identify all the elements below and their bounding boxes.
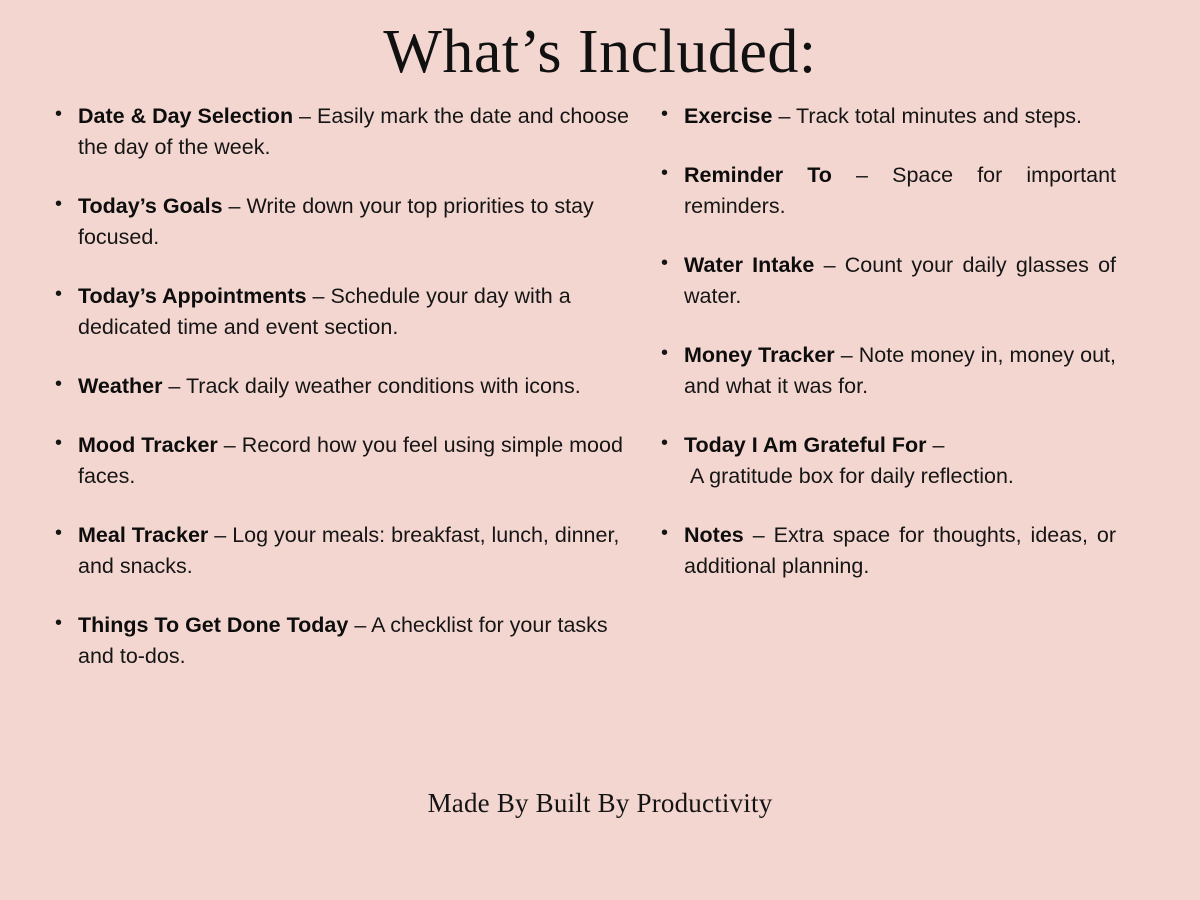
- feature-list-left: Date & Day Selection – Easily mark the d…: [46, 101, 632, 671]
- feature-term: Today I Am Grateful For: [684, 433, 927, 457]
- feature-term: Things To Get Done Today: [78, 613, 348, 637]
- page-title: What’s Included:: [0, 0, 1200, 87]
- feature-separator: –: [814, 253, 844, 277]
- promo-slide: What’s Included: Date & Day Selection – …: [0, 0, 1200, 900]
- feature-separator: –: [832, 163, 892, 187]
- feature-separator: –: [218, 433, 242, 457]
- feature-term: Today’s Goals: [78, 194, 223, 218]
- feature-term: Money Tracker: [684, 343, 835, 367]
- feature-separator: –: [293, 104, 317, 128]
- feature-item: Things To Get Done Today – A checklist f…: [46, 610, 632, 672]
- feature-item: Water Intake – Count your daily glasses …: [652, 250, 1116, 312]
- feature-term: Reminder To: [684, 163, 832, 187]
- feature-term: Mood Tracker: [78, 433, 218, 457]
- feature-term: Exercise: [684, 104, 772, 128]
- feature-term: Notes: [684, 523, 744, 547]
- feature-item: Mood Tracker – Record how you feel using…: [46, 430, 632, 492]
- feature-item: Today I Am Grateful For – A gratitude bo…: [652, 430, 1116, 492]
- feature-item: Money Tracker – Note money in, money out…: [652, 340, 1116, 402]
- feature-term: Today’s Appointments: [78, 284, 307, 308]
- feature-separator: –: [744, 523, 774, 547]
- feature-term: Meal Tracker: [78, 523, 208, 547]
- feature-separator: –: [162, 374, 186, 398]
- feature-item: Today’s Appointments – Schedule your day…: [46, 281, 632, 343]
- feature-item: Date & Day Selection – Easily mark the d…: [46, 101, 632, 163]
- feature-separator: –: [307, 284, 331, 308]
- feature-item: Notes – Extra space for thoughts, ideas,…: [652, 520, 1116, 582]
- footer-credit: Made By Built By Productivity: [0, 788, 1200, 819]
- feature-list-right: Exercise – Track total minutes and steps…: [652, 101, 1116, 581]
- feature-item: Exercise – Track total minutes and steps…: [652, 101, 1116, 132]
- feature-separator: –: [208, 523, 232, 547]
- features-column-right: Exercise – Track total minutes and steps…: [640, 101, 1200, 581]
- feature-term: Water Intake: [684, 253, 814, 277]
- features-columns: Date & Day Selection – Easily mark the d…: [0, 101, 1200, 671]
- feature-separator: –: [835, 343, 859, 367]
- feature-description: A gratitude box for daily reflection.: [684, 464, 1014, 488]
- feature-description: Track daily weather conditions with icon…: [186, 374, 581, 398]
- feature-separator: –: [772, 104, 796, 128]
- feature-separator: –: [223, 194, 247, 218]
- feature-item: Weather – Track daily weather conditions…: [46, 371, 632, 402]
- features-column-left: Date & Day Selection – Easily mark the d…: [0, 101, 640, 671]
- feature-separator: –: [348, 613, 371, 637]
- feature-item: Reminder To – Space for important remind…: [652, 160, 1116, 222]
- feature-item: Today’s Goals – Write down your top prio…: [46, 191, 632, 253]
- feature-item: Meal Tracker – Log your meals: breakfast…: [46, 520, 632, 582]
- feature-description: Track total minutes and steps.: [796, 104, 1082, 128]
- feature-separator: –: [927, 433, 945, 457]
- feature-term: Weather: [78, 374, 162, 398]
- feature-term: Date & Day Selection: [78, 104, 293, 128]
